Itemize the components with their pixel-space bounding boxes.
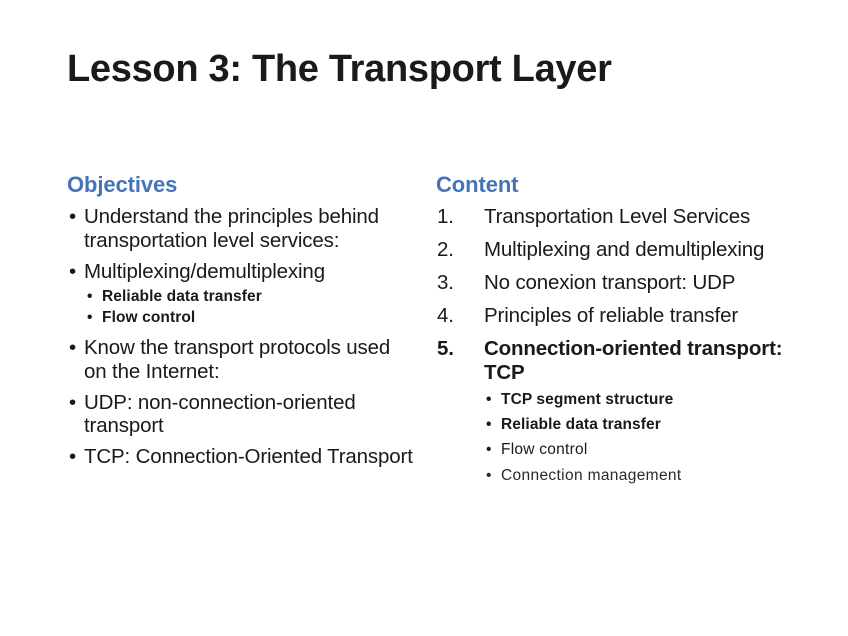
- objectives-bullet-item: •UDP: non-connection-oriented transport: [67, 391, 417, 439]
- objectives-bullet-label: Know the transport protocols used on the…: [84, 336, 390, 383]
- content-item-number: 4.: [437, 304, 454, 328]
- content-sub-bullet-label: TCP segment structure: [501, 391, 673, 408]
- objectives-heading: Objectives: [67, 172, 417, 197]
- objectives-bullet-label: Multiplexing/demultiplexing: [84, 260, 325, 283]
- objectives-bullet-item: •Multiplexing/demultiplexing•Reliable da…: [67, 260, 417, 328]
- content-numbered-item: 1.Transportation Level Services: [436, 205, 788, 229]
- content-item-label: Connection-oriented transport: TCP: [484, 337, 782, 384]
- content-numbered-item: 4.Principles of reliable transfer: [436, 304, 788, 328]
- content-sub-bullet-label: Flow control: [501, 441, 588, 458]
- content-item-label: Principles of reliable transfer: [484, 304, 738, 327]
- content-item-label: Multiplexing and demultiplexing: [484, 238, 764, 261]
- objectives-sub-bullet-label: Reliable data transfer: [102, 288, 262, 305]
- objectives-list: •Understand the principles behind transp…: [67, 205, 417, 469]
- bullet-dot-icon: •: [87, 287, 93, 307]
- content-item-label: No conexion transport: UDP: [484, 271, 735, 294]
- content-column: Content 1.Transportation Level Services2…: [436, 172, 788, 497]
- content-sub-bullet-list: •TCP segment structure•Reliable data tra…: [484, 387, 788, 487]
- objectives-bullet-label: TCP: Connection-Oriented Transport: [84, 445, 413, 468]
- bullet-dot-icon: •: [69, 260, 76, 284]
- content-numbered-item: 5.Connection-oriented transport: TCP•TCP…: [436, 337, 788, 487]
- objectives-sub-bullet-label: Flow control: [102, 309, 195, 326]
- bullet-dot-icon: •: [486, 463, 492, 488]
- bullet-dot-icon: •: [69, 336, 76, 360]
- objectives-bullet-item: •Understand the principles behind transp…: [67, 205, 417, 253]
- content-item-number: 5.: [437, 337, 454, 361]
- content-numbered-list: 1.Transportation Level Services2.Multipl…: [436, 205, 788, 487]
- content-sub-bullet-item: •Flow control: [484, 437, 788, 462]
- bullet-dot-icon: •: [486, 387, 492, 412]
- slide-canvas: Lesson 3: The Transport Layer Objectives…: [0, 0, 848, 636]
- content-sub-bullet-label: Reliable data transfer: [501, 416, 661, 433]
- content-numbered-item: 2.Multiplexing and demultiplexing: [436, 238, 788, 262]
- content-numbered-item: 3.No conexion transport: UDP: [436, 271, 788, 295]
- bullet-dot-icon: •: [69, 445, 76, 469]
- bullet-dot-icon: •: [69, 391, 76, 415]
- objectives-sub-bullet-item: •Flow control: [84, 308, 417, 328]
- content-item-number: 1.: [437, 205, 454, 229]
- objectives-sub-bullet-list: •Reliable data transfer•Flow control: [84, 287, 417, 328]
- content-heading: Content: [436, 172, 788, 197]
- content-sub-bullet-label: Connection management: [501, 467, 682, 484]
- content-sub-bullet-item: •Reliable data transfer: [484, 412, 788, 437]
- objectives-sub-bullet-item: •Reliable data transfer: [84, 287, 417, 307]
- page-title: Lesson 3: The Transport Layer: [67, 50, 787, 88]
- content-item-label: Transportation Level Services: [484, 205, 750, 228]
- content-item-number: 2.: [437, 238, 454, 262]
- objectives-bullet-label: UDP: non-connection-oriented transport: [84, 391, 356, 438]
- bullet-dot-icon: •: [69, 205, 76, 229]
- content-sub-bullet-item: •TCP segment structure: [484, 387, 788, 412]
- bullet-dot-icon: •: [486, 412, 492, 437]
- objectives-bullet-item: •TCP: Connection-Oriented Transport: [67, 445, 417, 469]
- objectives-column: Objectives •Understand the principles be…: [67, 172, 417, 476]
- objectives-bullet-item: •Know the transport protocols used on th…: [67, 336, 417, 384]
- bullet-dot-icon: •: [486, 437, 492, 462]
- content-sub-bullet-item: •Connection management: [484, 463, 788, 488]
- bullet-dot-icon: •: [87, 308, 93, 328]
- objectives-bullet-label: Understand the principles behind transpo…: [84, 205, 379, 252]
- content-item-number: 3.: [437, 271, 454, 295]
